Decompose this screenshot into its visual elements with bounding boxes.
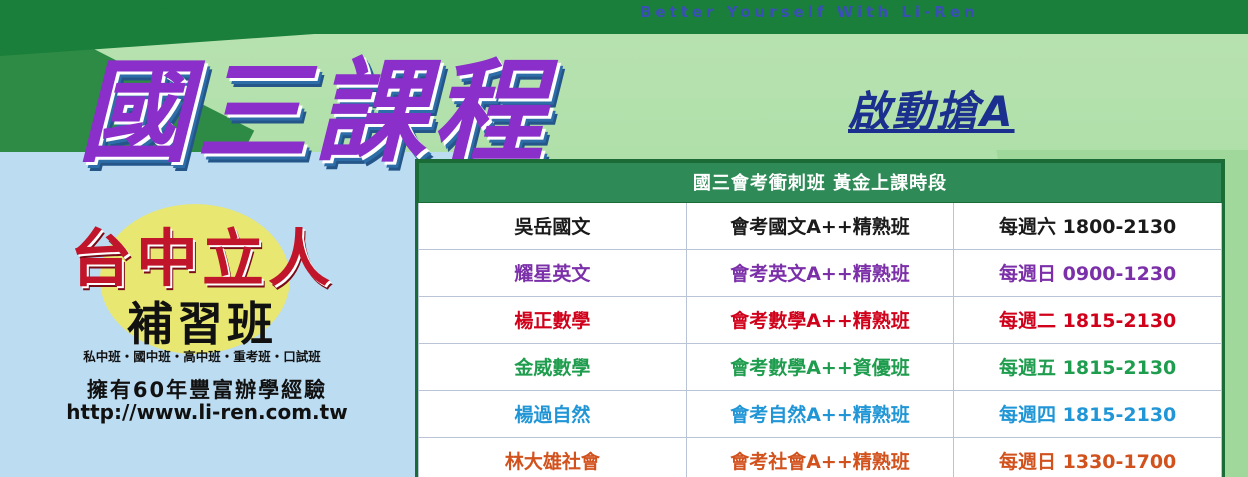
school-logo: 台中立人 補習班 私中班・國中班・高中班・重考班・口試班 擁有60年豐富辦學經驗… bbox=[30, 196, 370, 436]
promo-banner: Better Yourself With Li-Ren 國三課程 啟動搶A 台中… bbox=[0, 0, 1248, 477]
row-time: 每週四 1815-2130 bbox=[954, 391, 1222, 438]
schedule-table-container: 國三會考衝刺班 黃金上課時段 吳岳國文會考國文A++精熟班每週六 1800-21… bbox=[416, 160, 1224, 477]
schedule-table: 國三會考衝刺班 黃金上課時段 吳岳國文會考國文A++精熟班每週六 1800-21… bbox=[418, 162, 1222, 477]
row-course: 會考社會A++精熟班 bbox=[686, 438, 954, 477]
row-time: 每週六 1800-2130 bbox=[954, 203, 1222, 250]
logo-class-types: 私中班・國中班・高中班・重考班・口試班 bbox=[42, 346, 362, 365]
row-course: 會考英文A++精熟班 bbox=[686, 250, 954, 297]
row-course: 會考數學A++資優班 bbox=[686, 344, 954, 391]
row-teacher: 林大雄社會 bbox=[419, 438, 687, 477]
schedule-table-body: 吳岳國文會考國文A++精熟班每週六 1800-2130耀星英文會考英文A++精熟… bbox=[419, 203, 1222, 477]
row-teacher: 楊正數學 bbox=[419, 297, 687, 344]
table-row: 楊過自然會考自然A++精熟班每週四 1815-2130 bbox=[419, 391, 1222, 438]
logo-name-top: 台中立人 bbox=[42, 208, 362, 298]
table-row: 耀星英文會考英文A++精熟班每週日 0900-1230 bbox=[419, 250, 1222, 297]
logo-name-bottom: 補習班 bbox=[42, 288, 362, 354]
page-subtitle: 啟動搶A bbox=[848, 78, 1015, 139]
row-teacher: 吳岳國文 bbox=[419, 203, 687, 250]
row-course: 會考國文A++精熟班 bbox=[686, 203, 954, 250]
row-teacher: 楊過自然 bbox=[419, 391, 687, 438]
table-header-row: 國三會考衝刺班 黃金上課時段 bbox=[419, 163, 1222, 203]
row-teacher: 金威數學 bbox=[419, 344, 687, 391]
row-course: 會考數學A++精熟班 bbox=[686, 297, 954, 344]
table-row: 金威數學會考數學A++資優班每週五 1815-2130 bbox=[419, 344, 1222, 391]
row-teacher: 耀星英文 bbox=[419, 250, 687, 297]
row-time: 每週五 1815-2130 bbox=[954, 344, 1222, 391]
row-time: 每週日 0900-1230 bbox=[954, 250, 1222, 297]
table-row: 楊正數學會考數學A++精熟班每週二 1815-2130 bbox=[419, 297, 1222, 344]
row-time: 每週日 1330-1700 bbox=[954, 438, 1222, 477]
row-time: 每週二 1815-2130 bbox=[954, 297, 1222, 344]
row-course: 會考自然A++精熟班 bbox=[686, 391, 954, 438]
table-row: 吳岳國文會考國文A++精熟班每週六 1800-2130 bbox=[419, 203, 1222, 250]
logo-website-url[interactable]: http://www.li-ren.com.tw bbox=[42, 400, 372, 424]
table-row: 林大雄社會會考社會A++精熟班每週日 1330-1700 bbox=[419, 438, 1222, 477]
table-header-cell: 國三會考衝刺班 黃金上課時段 bbox=[419, 163, 1222, 203]
tagline: Better Yourself With Li-Ren bbox=[640, 3, 979, 21]
